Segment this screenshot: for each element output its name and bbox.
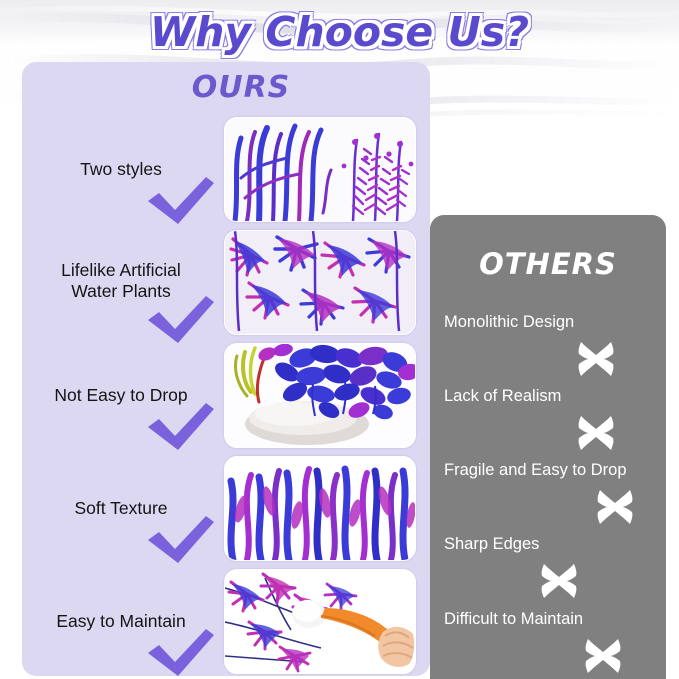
ours-row: Soft Texture: [22, 456, 430, 566]
others-heading: OTHERS: [430, 247, 666, 281]
x-icon: [594, 486, 636, 528]
ours-label-cell: Not Easy to Drop: [26, 343, 216, 453]
x-icon: [575, 338, 617, 380]
ours-row: Not Easy to Drop: [22, 343, 430, 453]
others-panel: OTHERS Monolithic Design Lack of Realism…: [430, 215, 666, 679]
check-icon: [144, 401, 216, 453]
ours-panel: OURS Two styles: [22, 62, 430, 676]
ours-thumbnail: [224, 456, 416, 561]
title-container: Why Choose Us?: [0, 2, 679, 62]
check-icon: [144, 627, 216, 679]
ours-thumbnail: [224, 569, 416, 674]
x-icon: [575, 412, 617, 454]
ours-heading: OURS: [22, 70, 430, 105]
ours-label-cell: Easy to Maintain: [26, 569, 216, 679]
others-item-label: Monolithic Design: [444, 313, 574, 332]
ours-item-label-line1: Lifelike Artificial: [61, 260, 181, 280]
ours-label-cell: Two styles: [26, 117, 216, 227]
others-item-label: Sharp Edges: [444, 535, 539, 554]
ours-label-cell: Soft Texture: [26, 456, 216, 566]
others-item-label: Difficult to Maintain: [444, 610, 583, 629]
ours-row: Lifelike Artificial Water Plants: [22, 230, 430, 340]
others-item-label: Fragile and Easy to Drop: [444, 461, 627, 480]
page-title: Why Choose Us?: [150, 8, 529, 56]
others-item-label: Lack of Realism: [444, 387, 561, 406]
ours-thumbnail: [224, 230, 416, 335]
check-icon: [144, 175, 216, 227]
ours-thumbnail: [224, 117, 416, 222]
ours-row: Two styles: [22, 117, 430, 227]
ours-label-cell: Lifelike Artificial Water Plants: [26, 230, 216, 340]
check-icon: [144, 514, 216, 566]
ours-thumbnail: [224, 343, 416, 448]
ours-row: Easy to Maintain: [22, 569, 430, 679]
x-icon: [582, 635, 624, 677]
check-icon: [144, 294, 216, 346]
x-icon: [538, 560, 580, 602]
